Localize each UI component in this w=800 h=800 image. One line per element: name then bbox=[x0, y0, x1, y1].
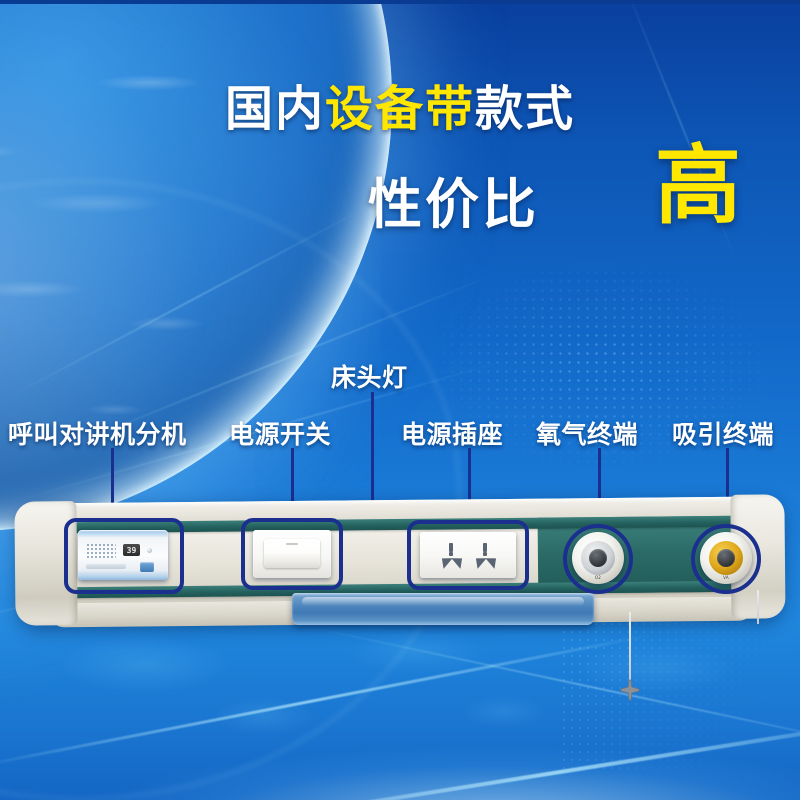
highlight-box-power-switch bbox=[241, 518, 343, 590]
callout-label-intercom: 呼叫对讲机分机 bbox=[8, 415, 187, 451]
highlight-circle-oxygen bbox=[563, 524, 633, 594]
suction-hose-cord bbox=[757, 590, 759, 624]
headline-seg-2: 设备带 bbox=[325, 81, 475, 137]
headline-block: 国内设备带款式 bbox=[0, 84, 800, 135]
callout-label-oxygen-terminal: 氧气终端 bbox=[536, 415, 638, 451]
emphasis-character: 高 bbox=[655, 143, 741, 229]
oxygen-hose-cord bbox=[629, 612, 631, 684]
hanger-hook-icon bbox=[618, 678, 642, 702]
headline-line-1: 国内设备带款式 bbox=[0, 84, 800, 135]
callout-label-suction-terminal: 吸引终端 bbox=[672, 415, 774, 451]
headline-line-2: 性价比 bbox=[368, 160, 539, 239]
bottom-glow bbox=[0, 640, 800, 800]
highlight-box-intercom bbox=[64, 518, 184, 594]
headline-seg-3: 款式 bbox=[475, 81, 575, 137]
headline-seg-1: 国内 bbox=[225, 81, 325, 137]
poster-canvas: 国内设备带款式 性价比 高 呼叫对讲机分机 电源开关 床头灯 电源插座 氧气终端… bbox=[0, 0, 800, 800]
callout-label-power-switch: 电源开关 bbox=[229, 415, 331, 451]
highlight-box-power-socket bbox=[407, 520, 529, 590]
callout-label-power-socket: 电源插座 bbox=[401, 415, 503, 451]
highlight-circle-suction bbox=[691, 524, 761, 594]
callout-label-bed-lamp: 床头灯 bbox=[331, 358, 408, 394]
top-edge-bar bbox=[0, 0, 800, 4]
cable-cover-highlight bbox=[302, 597, 584, 606]
